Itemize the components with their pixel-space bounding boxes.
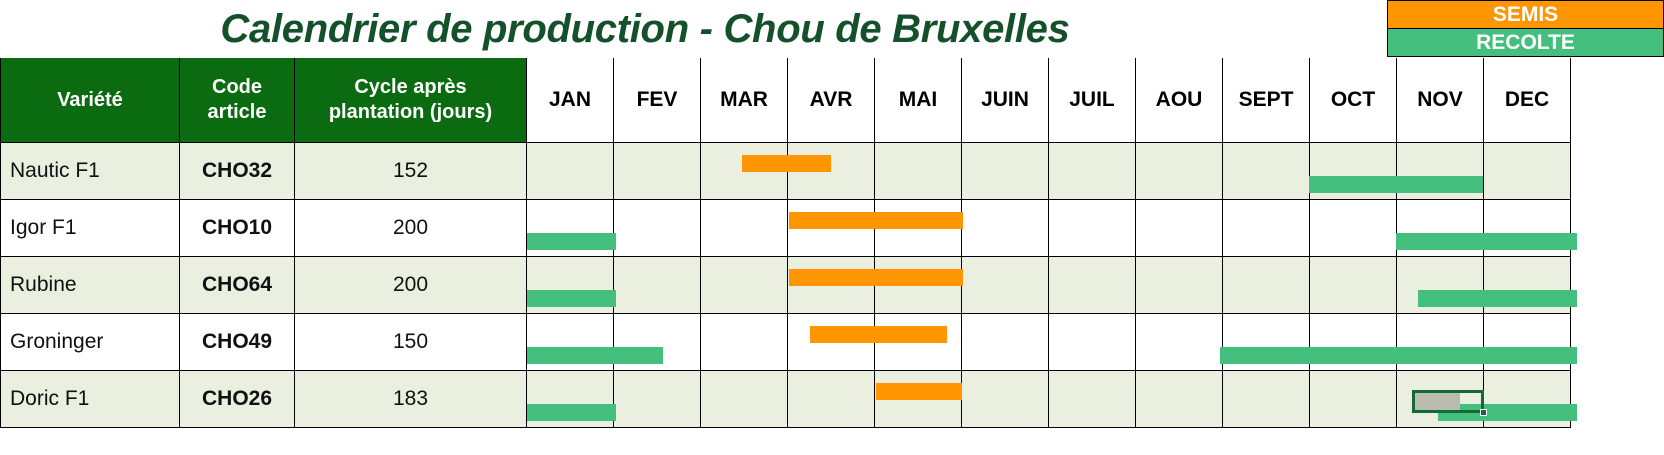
cell-code[interactable]: CHO49 [180, 314, 295, 371]
cell-month-juin[interactable] [962, 257, 1049, 314]
column-header-month-avr: AVR [788, 58, 875, 143]
cell-variety[interactable]: Groninger [0, 314, 180, 371]
table-row[interactable]: RubineCHO64200 [0, 257, 1664, 314]
cell-month-juin[interactable] [962, 143, 1049, 200]
column-header-cycle: Cycle après plantation (jours) [295, 58, 527, 143]
cell-month-mar[interactable] [701, 314, 788, 371]
cell-month-aou[interactable] [1136, 314, 1223, 371]
cell-month-sept[interactable] [1223, 371, 1310, 428]
cell-month-fev[interactable] [614, 314, 701, 371]
legend-item-recolte: RECOLTE [1387, 28, 1664, 57]
calendar-table: Variété Code article Cycle après plantat… [0, 58, 1664, 428]
production-calendar-sheet: Calendrier de production - Chou de Bruxe… [0, 0, 1664, 455]
cycle-line-1: Cycle après [354, 76, 466, 98]
cell-month-dec[interactable] [1484, 143, 1571, 200]
cell-cycle[interactable]: 200 [295, 200, 527, 257]
column-header-code-label: Code article [208, 75, 267, 125]
cell-month-oct[interactable] [1310, 371, 1397, 428]
cell-month-aou[interactable] [1136, 143, 1223, 200]
cell-month-mai[interactable] [875, 257, 962, 314]
column-header-month-juin: JUIN [962, 58, 1049, 143]
cell-month-mai[interactable] [875, 371, 962, 428]
cell-month-jan[interactable] [527, 143, 614, 200]
cell-month-juin[interactable] [962, 200, 1049, 257]
column-header-cycle-label: Cycle après plantation (jours) [329, 75, 492, 125]
cell-code[interactable]: CHO64 [180, 257, 295, 314]
cell-cycle[interactable]: 183 [295, 371, 527, 428]
column-header-code: Code article [180, 58, 295, 143]
cell-month-jan[interactable] [527, 257, 614, 314]
cell-month-fev[interactable] [614, 371, 701, 428]
cell-cycle[interactable]: 152 [295, 143, 527, 200]
column-header-month-mar: MAR [701, 58, 788, 143]
cell-variety[interactable]: Igor F1 [0, 200, 180, 257]
cell-month-oct[interactable] [1310, 314, 1397, 371]
selection-fill-handle[interactable] [1480, 409, 1487, 416]
cell-code[interactable]: CHO26 [180, 371, 295, 428]
cell-cycle[interactable]: 200 [295, 257, 527, 314]
cell-month-juil[interactable] [1049, 314, 1136, 371]
cell-month-aou[interactable] [1136, 257, 1223, 314]
cell-month-juin[interactable] [962, 314, 1049, 371]
cell-month-sept[interactable] [1223, 314, 1310, 371]
cell-month-mar[interactable] [701, 200, 788, 257]
cell-code[interactable]: CHO10 [180, 200, 295, 257]
cell-month-mar[interactable] [701, 143, 788, 200]
cell-month-jan[interactable] [527, 371, 614, 428]
cell-month-nov[interactable] [1397, 257, 1484, 314]
cell-month-oct[interactable] [1310, 143, 1397, 200]
cell-month-nov[interactable] [1397, 314, 1484, 371]
selected-cell-outline[interactable] [1412, 390, 1484, 413]
cell-month-nov[interactable] [1397, 143, 1484, 200]
cell-month-juil[interactable] [1049, 143, 1136, 200]
cell-month-jan[interactable] [527, 200, 614, 257]
code-line-1: Code [212, 76, 262, 98]
column-header-variety: Variété [0, 58, 180, 143]
cell-code[interactable]: CHO32 [180, 143, 295, 200]
cell-month-sept[interactable] [1223, 257, 1310, 314]
cell-month-dec[interactable] [1484, 314, 1571, 371]
cell-month-mai[interactable] [875, 314, 962, 371]
cell-month-sept[interactable] [1223, 200, 1310, 257]
cell-month-fev[interactable] [614, 143, 701, 200]
table-row[interactable]: GroningerCHO49150 [0, 314, 1664, 371]
column-header-month-nov: NOV [1397, 58, 1484, 143]
table-header-row: Variété Code article Cycle après plantat… [0, 58, 1664, 143]
column-header-month-dec: DEC [1484, 58, 1571, 143]
column-header-month-oct: OCT [1310, 58, 1397, 143]
column-header-month-jan: JAN [527, 58, 614, 143]
table-row[interactable]: Igor F1CHO10200 [0, 200, 1664, 257]
table-row[interactable]: Nautic F1CHO32152 [0, 143, 1664, 200]
cell-month-aou[interactable] [1136, 200, 1223, 257]
cell-month-avr[interactable] [788, 200, 875, 257]
column-header-variety-label: Variété [57, 88, 123, 113]
cell-month-mai[interactable] [875, 200, 962, 257]
cell-variety[interactable]: Rubine [0, 257, 180, 314]
cell-month-oct[interactable] [1310, 200, 1397, 257]
cell-month-jan[interactable] [527, 314, 614, 371]
column-header-month-sept: SEPT [1223, 58, 1310, 143]
cell-month-juil[interactable] [1049, 200, 1136, 257]
cell-month-dec[interactable] [1484, 371, 1571, 428]
column-header-month-aou: AOU [1136, 58, 1223, 143]
cell-month-juil[interactable] [1049, 371, 1136, 428]
cell-month-avr[interactable] [788, 143, 875, 200]
cell-month-dec[interactable] [1484, 200, 1571, 257]
cell-month-juin[interactable] [962, 371, 1049, 428]
cell-variety[interactable]: Nautic F1 [0, 143, 180, 200]
column-header-month-mai: MAI [875, 58, 962, 143]
legend: SEMIS RECOLTE [1387, 0, 1664, 56]
cell-month-dec[interactable] [1484, 257, 1571, 314]
legend-item-semis: SEMIS [1387, 0, 1664, 29]
cell-month-avr[interactable] [788, 314, 875, 371]
cell-cycle[interactable]: 150 [295, 314, 527, 371]
cell-month-oct[interactable] [1310, 257, 1397, 314]
code-line-2: article [208, 101, 267, 123]
cell-variety[interactable]: Doric F1 [0, 371, 180, 428]
cell-month-juil[interactable] [1049, 257, 1136, 314]
cell-month-avr[interactable] [788, 371, 875, 428]
cell-month-nov[interactable] [1397, 200, 1484, 257]
cycle-line-2: plantation (jours) [329, 101, 492, 123]
cell-month-avr[interactable] [788, 257, 875, 314]
column-header-month-fev: FEV [614, 58, 701, 143]
cell-month-mai[interactable] [875, 143, 962, 200]
cell-month-sept[interactable] [1223, 143, 1310, 200]
page-title: Calendrier de production - Chou de Bruxe… [0, 0, 1290, 58]
column-header-month-juil: JUIL [1049, 58, 1136, 143]
cell-month-mar[interactable] [701, 257, 788, 314]
cell-month-mar[interactable] [701, 371, 788, 428]
cell-month-fev[interactable] [614, 257, 701, 314]
cell-month-aou[interactable] [1136, 371, 1223, 428]
cell-month-fev[interactable] [614, 200, 701, 257]
